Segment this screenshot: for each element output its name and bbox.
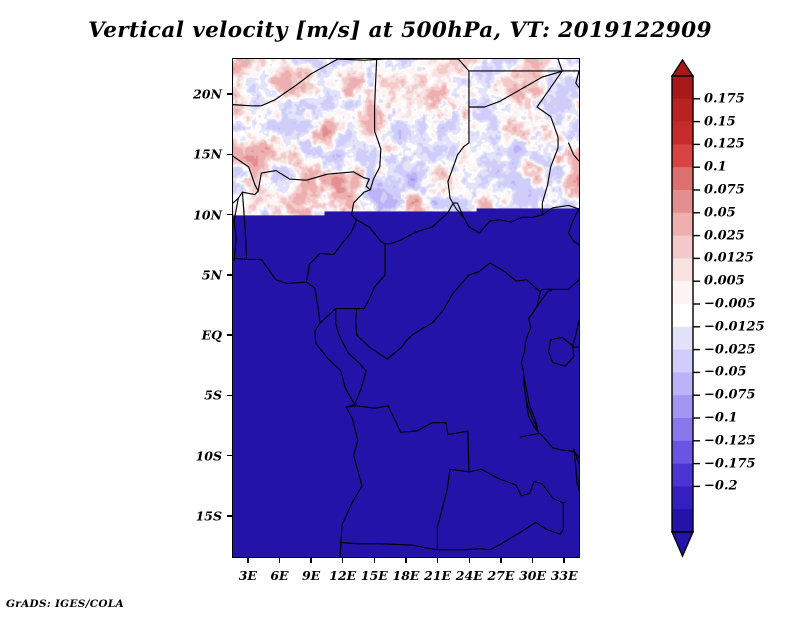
border-polyline	[233, 258, 362, 557]
border-polyline	[573, 321, 579, 346]
border-polyline	[569, 143, 579, 161]
border-polyline	[233, 59, 338, 106]
border-polyline	[338, 59, 479, 233]
longitude-tick-mark	[405, 558, 407, 563]
colorbar-tick-label: −0.0125	[704, 319, 765, 334]
latitude-tick-mark	[227, 395, 232, 397]
colorbar-segment	[672, 99, 693, 122]
longitude-tick-mark	[500, 558, 502, 563]
border-polyline	[520, 292, 540, 437]
longitude-tick-label: 33E	[551, 568, 578, 583]
longitude-tick-label: 15E	[361, 568, 388, 583]
border-polyline	[576, 71, 579, 95]
latitude-tick-label: 15S	[176, 508, 222, 523]
latitude-tick-mark	[227, 214, 232, 216]
colorbar-segment	[672, 418, 693, 441]
colorbar-segment	[672, 122, 693, 145]
border-polyline	[340, 543, 437, 550]
colorbar[interactable]: 0.1750.150.1250.10.0750.050.0250.01250.0…	[665, 58, 795, 558]
border-polyline	[537, 59, 562, 215]
latitude-tick-mark	[227, 274, 232, 276]
latitude-tick-mark	[227, 154, 232, 156]
colorbar-segment	[672, 395, 693, 418]
border-polyline	[306, 190, 370, 282]
colorbar-segment	[672, 213, 693, 236]
colorbar-segment	[672, 464, 693, 487]
longitude-tick-mark	[469, 558, 471, 563]
longitude-tick-label: 27E	[487, 568, 514, 583]
border-polyline	[549, 337, 574, 366]
colorbar-segment	[672, 236, 693, 259]
colorbar-segment	[672, 372, 693, 395]
map-plot-area	[232, 58, 580, 558]
colorbar-tick-label: 0.175	[704, 91, 745, 106]
colorbar-tick-label: −0.005	[704, 297, 756, 312]
latitude-tick-mark	[227, 515, 232, 517]
border-polyline	[234, 198, 238, 260]
longitude-tick-mark	[374, 558, 376, 563]
border-polyline	[233, 191, 258, 203]
colorbar-segment	[672, 441, 693, 464]
colorbar-segment	[672, 350, 693, 373]
border-polyline	[357, 203, 464, 244]
colorbar-tick-label: 0.05	[704, 205, 736, 220]
border-polyline	[320, 309, 356, 323]
latitude-tick-mark	[227, 334, 232, 336]
longitude-tick-label: 3E	[239, 568, 257, 583]
border-polyline	[356, 244, 579, 359]
longitude-tick-label: 30E	[519, 568, 546, 583]
colorbar-tick-label: 0.005	[704, 274, 745, 289]
longitude-tick-label: 24E	[456, 568, 483, 583]
border-polyline	[569, 209, 579, 245]
border-polyline	[540, 433, 579, 457]
colorbar-tick-label: −0.125	[704, 433, 756, 448]
border-polyline	[233, 156, 258, 191]
longitude-tick-mark	[563, 558, 565, 563]
latitude-tick-label: 10N	[176, 207, 222, 222]
longitude-tick-mark	[437, 558, 439, 563]
colorbar-segment	[672, 144, 693, 167]
colorbar-segment	[672, 304, 693, 327]
colorbar-segment	[672, 190, 693, 213]
longitude-tick-mark	[310, 558, 312, 563]
colorbar-tick-label: −0.2	[704, 479, 738, 494]
colorbar-segment	[672, 327, 693, 350]
colorbar-segment	[672, 167, 693, 190]
longitude-tick-mark	[532, 558, 534, 563]
border-polyline	[336, 309, 366, 405]
longitude-tick-label: 6E	[270, 568, 288, 583]
longitude-tick-mark	[247, 558, 249, 563]
colorbar-segment	[672, 509, 693, 532]
colorbar-tick-label: 0.125	[704, 137, 745, 152]
latitude-tick-mark	[227, 93, 232, 95]
latitude-tick-label: 5N	[176, 267, 222, 282]
latitude-tick-label: 20N	[176, 87, 222, 102]
latitude-tick-label: 5S	[176, 388, 222, 403]
colorbar-tick-label: 0.0125	[704, 251, 754, 266]
colorbar-tick-label: −0.025	[704, 342, 756, 357]
longitude-tick-mark	[279, 558, 281, 563]
country-borders-overlay	[233, 59, 579, 557]
latitude-tick-label: 10S	[176, 448, 222, 463]
latitude-tick-label: EQ	[176, 328, 222, 343]
border-polyline	[242, 192, 246, 259]
border-polyline	[469, 469, 565, 503]
colorbar-tick-label: −0.1	[704, 411, 738, 426]
colorbar-bottom-arrow	[672, 532, 693, 556]
grads-credit: GrADS: IGES/COLA	[6, 598, 124, 610]
colorbar-tick-label: −0.05	[704, 365, 747, 380]
border-polyline	[573, 346, 579, 347]
longitude-tick-mark	[342, 558, 344, 563]
colorbar-tick-label: 0.025	[704, 228, 745, 243]
colorbar-segment	[672, 258, 693, 281]
colorbar-tick-label: 0.1	[704, 160, 727, 175]
longitude-tick-label: 12E	[329, 568, 356, 583]
chart-title: Vertical velocity [m/s] at 500hPa, VT: 2…	[0, 18, 800, 43]
colorbar-tick-label: 0.075	[704, 183, 745, 198]
longitude-tick-label: 9E	[302, 568, 320, 583]
colorbar-segment	[672, 281, 693, 304]
border-polyline	[258, 171, 364, 191]
border-polyline	[479, 205, 579, 233]
colorbar-top-arrow	[672, 60, 693, 76]
border-polyline	[437, 503, 563, 550]
chart-canvas: Vertical velocity [m/s] at 500hPa, VT: 2…	[0, 0, 800, 618]
latitude-tick-mark	[227, 455, 232, 457]
colorbar-tick-label: 0.15	[704, 114, 736, 129]
latitude-tick-label: 15N	[176, 147, 222, 162]
colorbar-tick-label: −0.175	[704, 456, 756, 471]
border-polyline	[364, 59, 381, 190]
border-polyline	[523, 375, 538, 431]
colorbar-tick-label: −0.075	[704, 388, 756, 403]
border-polyline	[346, 406, 469, 550]
longitude-tick-label: 21E	[424, 568, 451, 583]
colorbar-segment	[672, 486, 693, 509]
border-polyline	[469, 71, 579, 107]
longitude-tick-label: 18E	[393, 568, 420, 583]
colorbar-segment	[672, 76, 693, 99]
